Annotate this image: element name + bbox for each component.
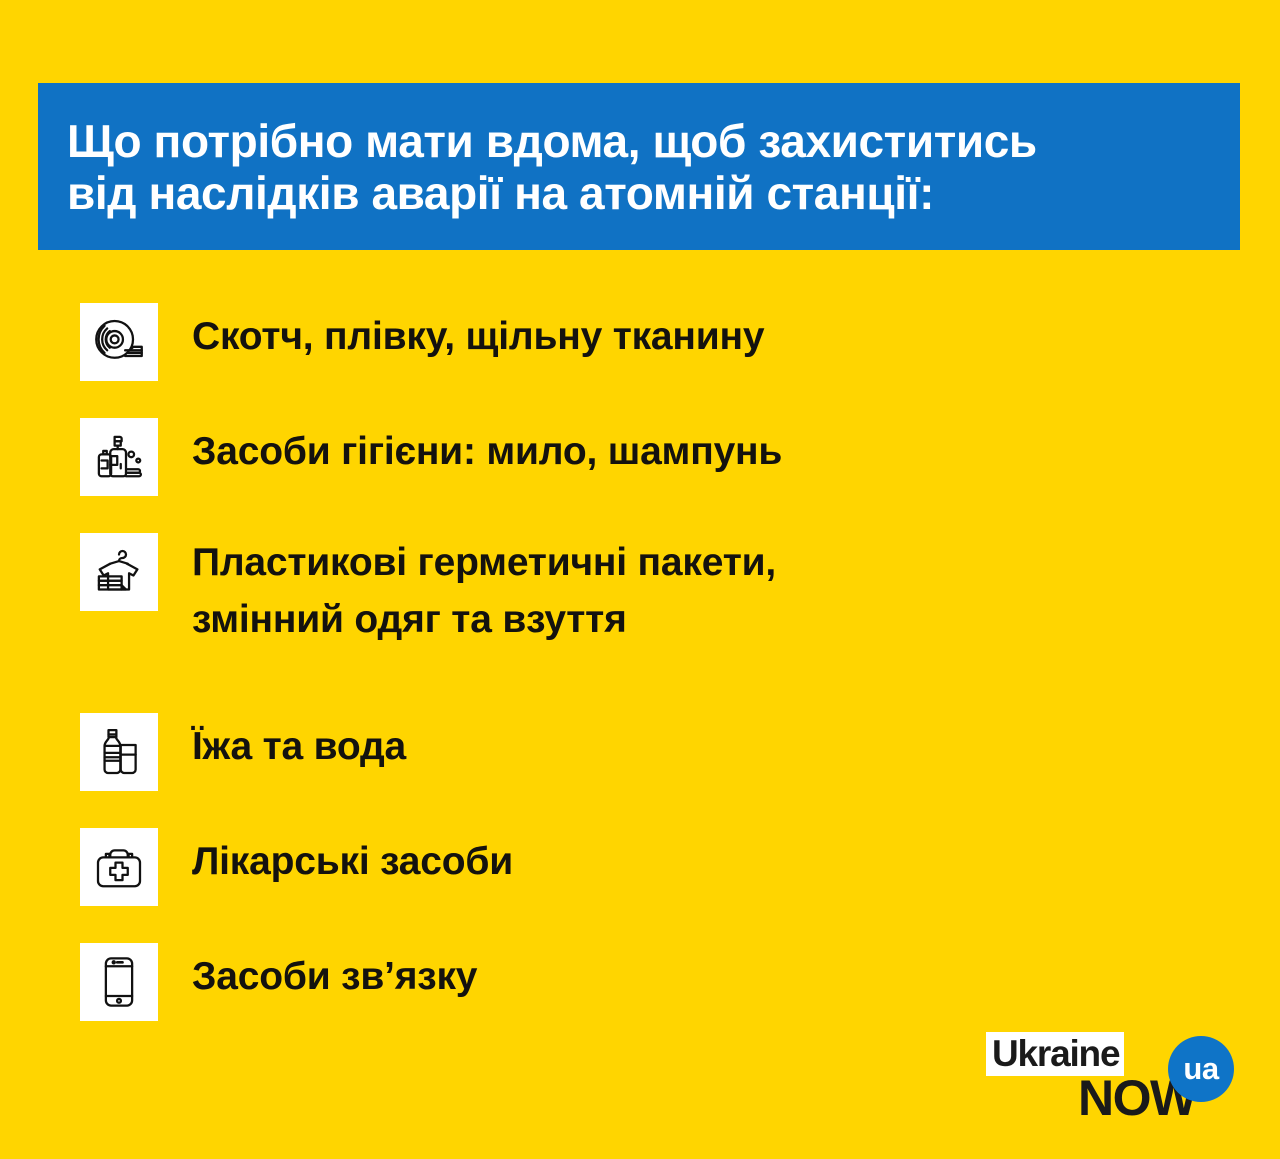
clothing-hanger-icon (80, 533, 158, 611)
list-item-label: Скотч, плівку, щільну тканину (192, 308, 764, 365)
list-item: Лікарські засоби (0, 815, 1280, 930)
list-item: Їжа та вода (0, 700, 1280, 815)
hygiene-bottles-icon (80, 418, 158, 496)
list-item-label: Лікарські засоби (192, 833, 513, 890)
bottle-glass-icon (80, 713, 158, 791)
ukraine-now-logo: Ukraine NOW ua (986, 1032, 1238, 1130)
list-item: Скотч, плівку, щільну тканину (0, 290, 1280, 405)
list-item-label: Їжа та вода (192, 718, 406, 775)
banner-title-line-2: від наслідків аварії на атомній станції: (67, 167, 1214, 219)
list-item: Засоби гігієни: мило, шампунь (0, 405, 1280, 520)
list-item-label: Засоби зв’язку (192, 948, 477, 1005)
banner-title-line-1: Що потрібно мати вдома, щоб захиститись (67, 115, 1214, 167)
smartphone-icon (80, 943, 158, 1021)
header-banner: Що потрібно мати вдома, щоб захиститись … (38, 83, 1240, 250)
first-aid-kit-icon (80, 828, 158, 906)
tape-roll-icon (80, 303, 158, 381)
list-item-label: Пластикові герметичні пакети, змінний од… (192, 534, 776, 648)
checklist-items: Скотч, плівку, щільну тканину Засоби гіг… (0, 290, 1280, 1045)
list-item: Засоби зв’язку (0, 930, 1280, 1045)
logo-ua-badge: ua (1168, 1036, 1234, 1102)
list-item: Пластикові герметичні пакети, змінний од… (0, 520, 1280, 700)
list-item-label: Засоби гігієни: мило, шампунь (192, 423, 782, 480)
